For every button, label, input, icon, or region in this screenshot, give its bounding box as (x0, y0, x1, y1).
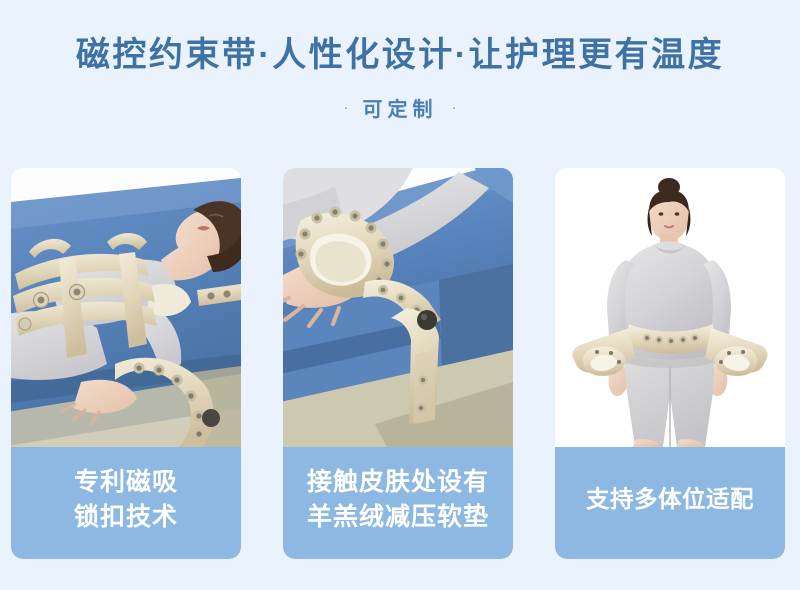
subtitle-row: · 可定制 · (0, 93, 800, 122)
promo-page: 磁控约束带·人性化设计·让护理更有温度 · 可定制 · (0, 0, 800, 590)
caption-line: 支持多体位适配 (586, 483, 754, 516)
caption-line: 锁扣技术 (74, 500, 178, 536)
feature-caption-1: 专利磁吸 锁扣技术 (11, 447, 241, 559)
standing-model-wearing-waist-restraint-belt-photo (555, 168, 785, 447)
feature-card-1[interactable]: 专利磁吸 锁扣技术 (11, 168, 241, 559)
caption-line: 羊羔绒减压软垫 (307, 500, 489, 536)
wrist-restraint-closeup-on-bed-rail-photo (283, 168, 513, 447)
feature-caption-3: 支持多体位适配 (555, 447, 785, 559)
page-subtitle: 可定制 (363, 93, 438, 122)
feature-card-row: 专利磁吸 锁扣技术 (11, 168, 787, 559)
left-dot-icon: · (344, 100, 349, 115)
feature-card-3[interactable]: 支持多体位适配 (555, 168, 785, 559)
page-header: 磁控约束带·人性化设计·让护理更有温度 · 可定制 · (0, 0, 800, 122)
feature-caption-2: 接触皮肤处设有 羊羔绒减压软垫 (283, 447, 513, 559)
feature-card-2[interactable]: 接触皮肤处设有 羊羔绒减压软垫 (283, 168, 513, 559)
patient-lying-with-chest-restraint-belt-photo (11, 168, 241, 447)
caption-line: 接触皮肤处设有 (307, 465, 489, 501)
page-title: 磁控约束带·人性化设计·让护理更有温度 (0, 34, 800, 77)
right-dot-icon: · (452, 100, 457, 115)
caption-line: 专利磁吸 (74, 465, 178, 501)
